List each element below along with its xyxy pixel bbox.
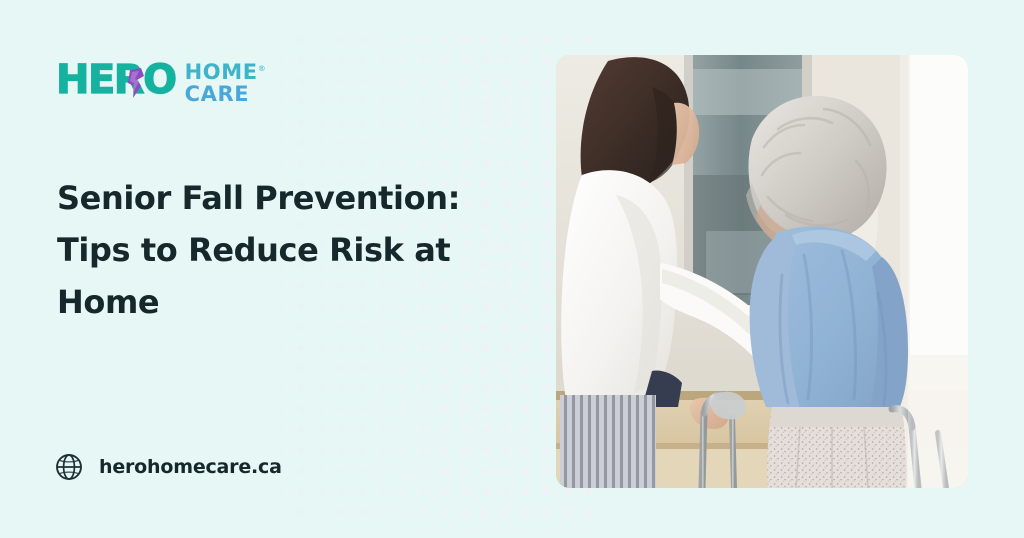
- logo-wordmark-wrap: HERO: [56, 60, 176, 100]
- hero-photo-illustration: [556, 55, 968, 488]
- globe-icon: [54, 452, 84, 482]
- hero-home-care-logo[interactable]: HERO HOME® CARE: [56, 52, 266, 108]
- website-url-row[interactable]: herohomecare.ca: [54, 452, 282, 482]
- page-title: Senior Fall Prevention: Tips to Reduce R…: [57, 172, 487, 328]
- website-url-text[interactable]: herohomecare.ca: [99, 456, 282, 478]
- blog-banner: HERO HOME® CARE Senior Fall Prevention: …: [0, 0, 1024, 538]
- logo-wordmark-hero: HERO: [56, 60, 176, 100]
- logo-home-care-stack: HOME® CARE: [185, 58, 266, 105]
- logo-text-care: CARE: [185, 83, 266, 105]
- registered-trademark-icon: ®: [258, 64, 266, 73]
- hero-photo: [556, 55, 968, 488]
- logo-text-home: HOME®: [185, 58, 266, 83]
